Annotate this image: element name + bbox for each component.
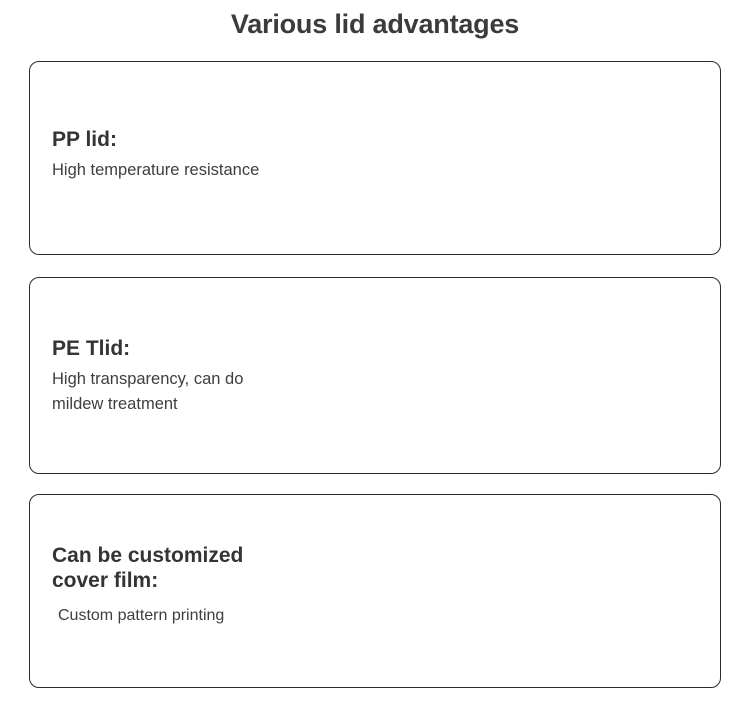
card-cover-film-heading: Can be customized cover film: (52, 543, 243, 593)
card-pp-lid-description: High temperature resistance (52, 158, 259, 183)
card-cover-film: Can be customized cover film: Custom pat… (29, 494, 721, 688)
card-pp-lid-text: PP lid: High temperature resistance (52, 127, 259, 183)
card-pp-lid: PP lid: High temperature resistance (29, 61, 721, 255)
card-cover-film-text: Can be customized cover film: Custom pat… (52, 543, 243, 628)
page-title: Various lid advantages (0, 0, 750, 44)
card-pe-lid-text: PE Tlid: High transparency, can do milde… (52, 336, 243, 417)
card-pp-lid-heading: PP lid: (52, 127, 259, 152)
card-pe-lid: PE Tlid: High transparency, can do milde… (29, 277, 721, 474)
card-pe-lid-heading: PE Tlid: (52, 336, 243, 361)
card-cover-film-description: Custom pattern printing (52, 603, 243, 628)
card-pe-lid-description: High transparency, can do mildew treatme… (52, 367, 243, 417)
